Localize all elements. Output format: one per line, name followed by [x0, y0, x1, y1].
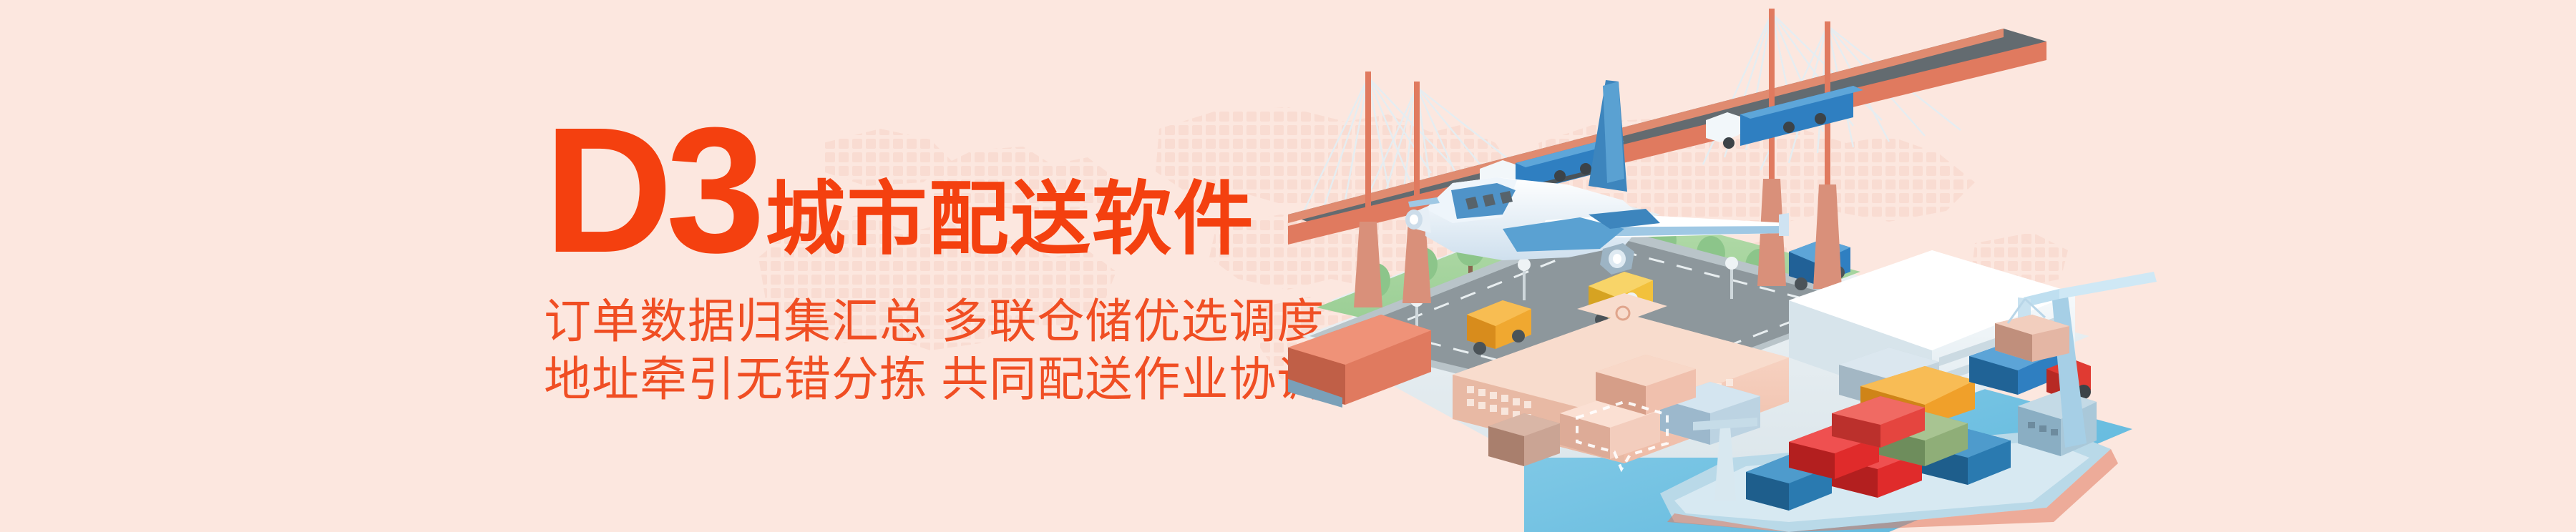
- subtitle-line-1: 订单数据归集汇总 多联仓储优选调度: [544, 292, 1331, 350]
- subtitle-line-2: 地址牵引无错分拣 共同配送作业协调: [544, 350, 1331, 408]
- product-name-text: 城市配送软件: [766, 187, 1255, 260]
- bridge-cables: [1302, 13, 1961, 215]
- promo-banner: D3 城市配送软件 订单数据归集汇总 多联仓储优选调度 地址牵引无错分拣 共同配…: [0, 0, 2576, 532]
- product-title-row: D3 城市配送软件: [544, 120, 1331, 260]
- headline-block: D3 城市配送软件 订单数据归集汇总 多联仓储优选调度 地址牵引无错分拣 共同配…: [544, 120, 1331, 408]
- subtitle-block: 订单数据归集汇总 多联仓储优选调度 地址牵引无错分拣 共同配送作业协调: [544, 292, 1331, 408]
- d3-logo-text: D3: [544, 120, 758, 260]
- logistics-illustration: [1288, 0, 2182, 532]
